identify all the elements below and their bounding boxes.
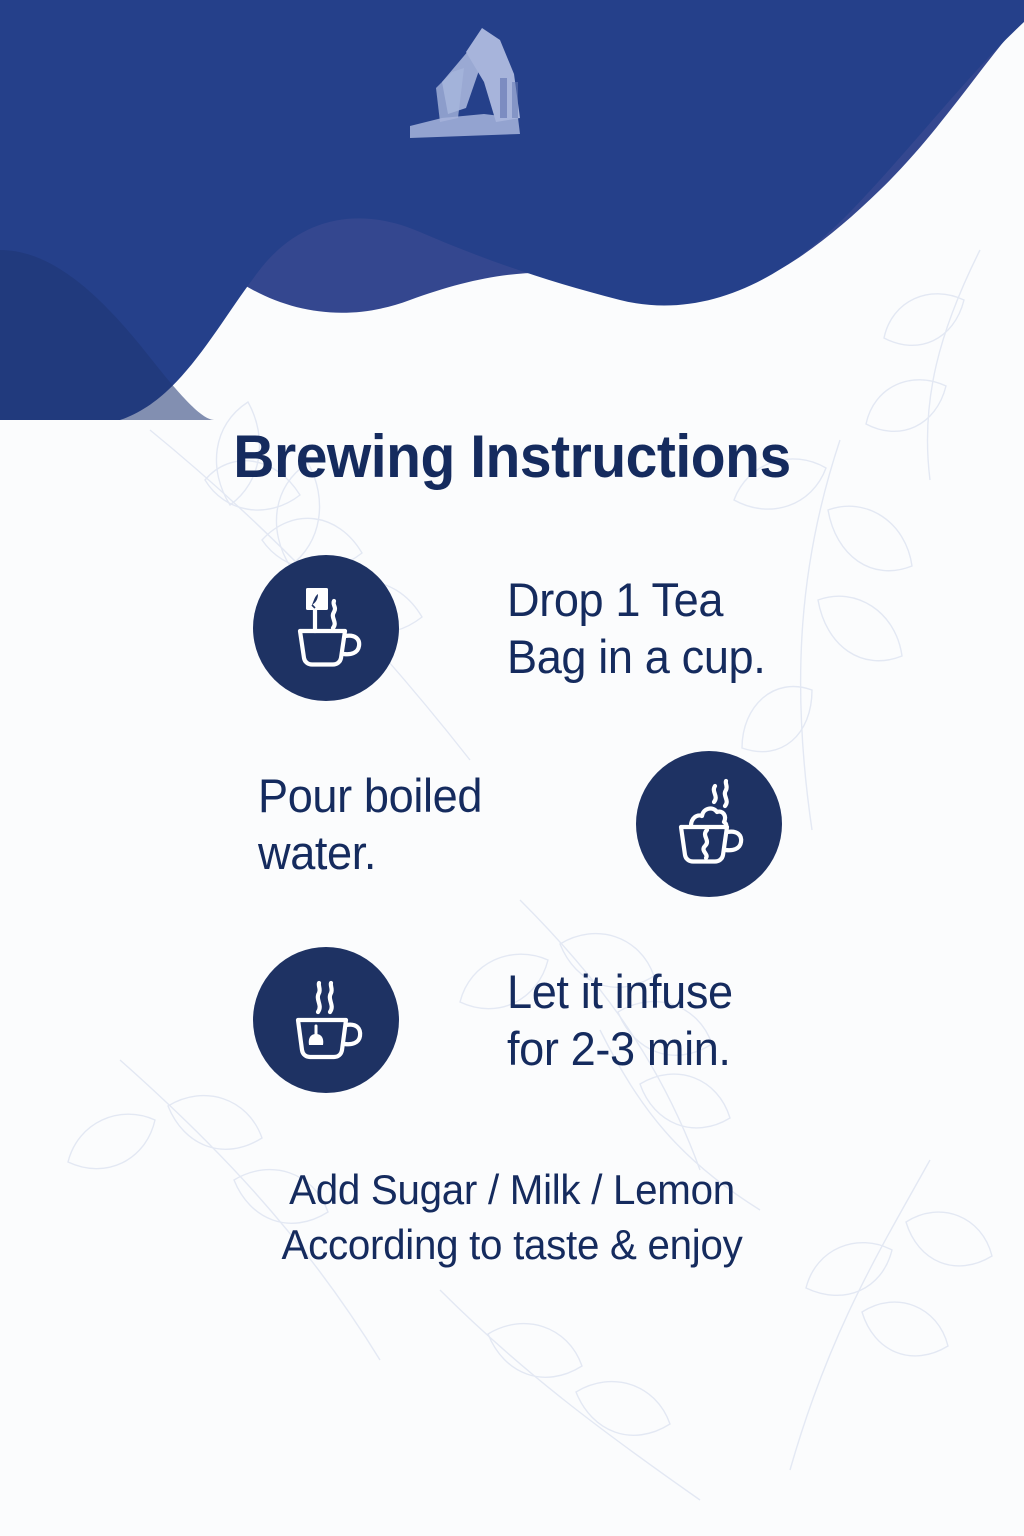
- tea-bag-into-cup-icon: [274, 576, 378, 680]
- step-2-badge: [636, 751, 782, 897]
- brewing-instructions-poster: Brewing Instructions: [0, 0, 1024, 1536]
- wave-layer-bottom-lobe: [0, 250, 215, 420]
- top-wave-decoration: [0, 0, 1024, 420]
- step-row: Let it infuse for 2-3 min.: [0, 940, 1024, 1100]
- step-2-text: Pour boiled water.: [258, 767, 575, 882]
- pouring-hot-water-cup-icon: [657, 772, 761, 876]
- steaming-cup-with-teabag-icon: [274, 968, 378, 1072]
- step-3-badge: [253, 947, 399, 1093]
- brand-logo-icon: [396, 22, 566, 147]
- step-1-text: Drop 1 Tea Bag in a cup.: [507, 571, 765, 686]
- page-title: Brewing Instructions: [26, 422, 999, 491]
- wave-layer-dark: [0, 0, 1024, 420]
- wave-layer-light: [0, 0, 1024, 300]
- steps-list: Drop 1 Tea Bag in a cup. Pour boiled wat…: [0, 548, 1024, 1136]
- wave-layer-mid: [0, 0, 1024, 313]
- step-1-badge: [253, 555, 399, 701]
- step-3-text: Let it infuse for 2-3 min.: [507, 963, 733, 1078]
- step-row: Pour boiled water.: [0, 744, 1024, 904]
- step-row: Drop 1 Tea Bag in a cup.: [0, 548, 1024, 708]
- footer-note: Add Sugar / Milk / Lemon According to ta…: [20, 1162, 1003, 1273]
